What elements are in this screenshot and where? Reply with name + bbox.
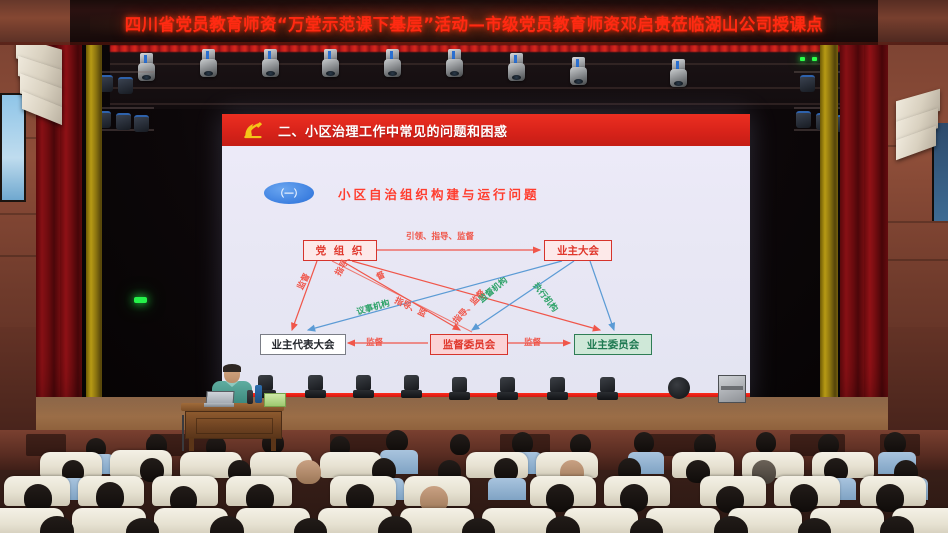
diagram-box-supervision-committee: 监督委员会 [430, 334, 508, 355]
diagram-label-top: 引领、指导、监督 [406, 230, 474, 242]
projection-screen: 二、小区治理工作中常见的问题和困惑 （一） 小区自治组织构建与运行问题 [222, 114, 750, 404]
truss-red-strip [110, 45, 840, 52]
water-bottle [255, 385, 262, 403]
moving-head-light-icon [200, 49, 217, 79]
laptop-icon [204, 391, 234, 407]
moving-head-light-icon [670, 59, 687, 89]
stage-light-icon [796, 111, 811, 128]
diagram-box-owners-assembly: 业主大会 [544, 240, 612, 261]
stage-light-icon [134, 115, 149, 132]
audience-head [386, 430, 408, 452]
slide-body: （一） 小区自治组织构建与运行问题 [222, 146, 750, 404]
event-banner: 四川省党员教育师资“万堂示范课下基层”活动—市级党员教育师资邓启贵莅临湖山公司授… [0, 0, 948, 45]
moving-head-light-icon [570, 57, 587, 87]
floor-speaker-icon [668, 377, 690, 399]
floor-moving-light-icon [500, 377, 515, 401]
thermos-bottle [247, 390, 253, 404]
audience-head [296, 460, 321, 484]
desk-green-box [264, 393, 286, 407]
gold-curtain-left [86, 45, 102, 441]
gold-curtain-right [820, 45, 838, 441]
side-wall-right [888, 45, 948, 445]
audience-head [634, 432, 654, 453]
moving-head-light-icon [322, 49, 339, 79]
audience-head [450, 434, 470, 455]
audience-body [488, 478, 526, 500]
slide-title: 二、小区治理工作中常见的问题和困惑 [278, 121, 508, 140]
screenshot-root: 二、小区治理工作中常见的问题和困惑 （一） 小区自治组织构建与运行问题 [0, 0, 948, 533]
equipment-road-case [718, 375, 746, 403]
truss-bar [110, 87, 840, 89]
audience-head [884, 432, 906, 454]
audience-head [40, 516, 74, 533]
audience-head [512, 432, 533, 454]
side-wall-left [0, 45, 36, 445]
banner-bottom-edge [0, 42, 948, 45]
moving-head-light-icon [262, 49, 279, 79]
floor-moving-light-icon [452, 377, 467, 401]
stage-light-icon [116, 113, 131, 130]
floor-moving-light-icon [550, 377, 565, 401]
slide-header-bar: 二、小区治理工作中常见的问题和困惑 [222, 114, 750, 146]
floor-moving-light-icon [404, 375, 419, 399]
green-indicator-icon [800, 57, 805, 61]
audience-head [96, 482, 124, 511]
hammer-sickle-icon [242, 120, 264, 140]
diagram-box-owners-committee: 业主委员会 [574, 334, 652, 355]
floor-moving-light-icon [356, 375, 371, 399]
floor-moving-light-icon [308, 375, 323, 399]
truss-bar [110, 63, 840, 65]
lecture-desk [181, 403, 284, 451]
audience-head [756, 432, 776, 453]
moving-head-light-icon [446, 49, 463, 79]
diagram-label-bottom-left: 监督 [366, 336, 383, 348]
moving-head-light-icon [384, 49, 401, 79]
stage-light-icon [800, 75, 815, 92]
green-indicator-icon [812, 57, 817, 61]
audience-seating-area [0, 430, 948, 533]
diagram-label-bottom-right: 监督 [524, 336, 541, 348]
truss-bar [110, 103, 840, 105]
banner-title-text: 四川省党员教育师资“万堂示范课下基层”活动—市级党员教育师资邓启贵莅临湖山公司授… [0, 0, 948, 45]
lighting-truss [110, 47, 840, 109]
stage-light-icon [118, 77, 133, 94]
floor-moving-light-icon [600, 377, 615, 401]
diagram-box-owners-rep-assembly: 业主代表大会 [260, 334, 346, 355]
moving-head-light-icon [508, 53, 525, 83]
red-curtain-right [840, 45, 888, 445]
green-exit-light-icon [134, 297, 147, 303]
